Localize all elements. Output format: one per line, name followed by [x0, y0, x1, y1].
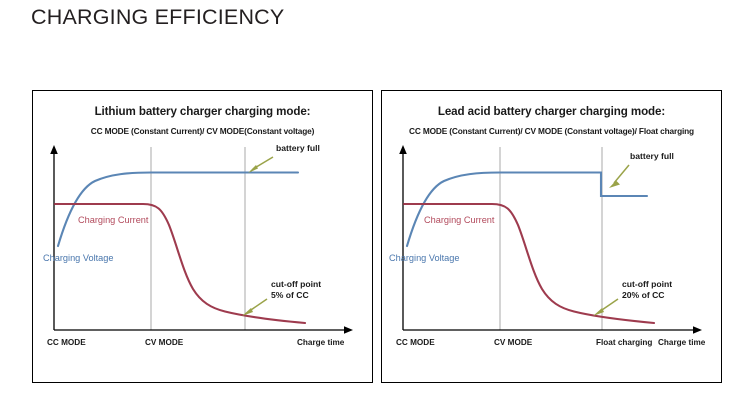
- annotation-cut-off-line2: 5% of CC: [271, 290, 309, 300]
- x-tick-cc-mode: CC MODE: [396, 338, 435, 347]
- chart-title-lead-acid: Lead acid battery charger charging mode:: [382, 105, 721, 118]
- annotation-battery-full-text: battery full: [630, 151, 674, 161]
- series-charging-voltage: [58, 173, 298, 247]
- label-charging-voltage: Charging Voltage: [389, 253, 460, 263]
- chart-subtitle-lead-acid: CC MODE (Constant Current)/ CV MODE (Con…: [382, 126, 721, 136]
- page-title: CHARGING EFFICIENCY: [31, 5, 284, 30]
- chart-title-lithium: Lithium battery charger charging mode:: [33, 105, 372, 118]
- annotation-cut-off-line1: cut-off point: [271, 279, 321, 289]
- annotation-battery-full: battery full: [609, 151, 674, 188]
- plot-area-lithium: Charging Current Charging Voltage batter…: [33, 139, 374, 382]
- x-tick-cv-mode: CV MODE: [145, 338, 184, 347]
- x-axis-arrowhead: [344, 326, 353, 334]
- x-axis-label: Charge time: [297, 338, 345, 347]
- x-tick-cv-mode: CV MODE: [494, 338, 533, 347]
- x-tick-float-charging: Float charging: [596, 338, 652, 347]
- x-axis-arrowhead: [693, 326, 702, 334]
- series-charging-voltage: [407, 173, 647, 247]
- plot-area-lead-acid: Charging Current Charging Voltage batter…: [382, 139, 723, 382]
- annotation-cut-off-line2: 20% of CC: [622, 290, 665, 300]
- label-charging-current: Charging Current: [424, 215, 495, 225]
- annotation-battery-full-text: battery full: [276, 143, 320, 153]
- x-axis-label: Charge time: [658, 338, 706, 347]
- chart-panel-lithium: Lithium battery charger charging mode: C…: [32, 90, 373, 383]
- y-axis-arrowhead: [399, 145, 407, 154]
- label-charging-current: Charging Current: [78, 215, 149, 225]
- x-tick-cc-mode: CC MODE: [47, 338, 86, 347]
- chart-panel-lead-acid: Lead acid battery charger charging mode:…: [381, 90, 722, 383]
- annotation-cut-off-point: cut-off point 20% of CC: [593, 279, 672, 316]
- y-axis-arrowhead: [50, 145, 58, 154]
- chart-subtitle-lithium: CC MODE (Constant Current)/ CV MODE(Cons…: [33, 126, 372, 136]
- annotation-battery-full: battery full: [248, 143, 320, 173]
- label-charging-voltage: Charging Voltage: [43, 253, 114, 263]
- annotation-cut-off-line1: cut-off point: [622, 279, 672, 289]
- annotation-cut-off-point: cut-off point 5% of CC: [242, 279, 321, 316]
